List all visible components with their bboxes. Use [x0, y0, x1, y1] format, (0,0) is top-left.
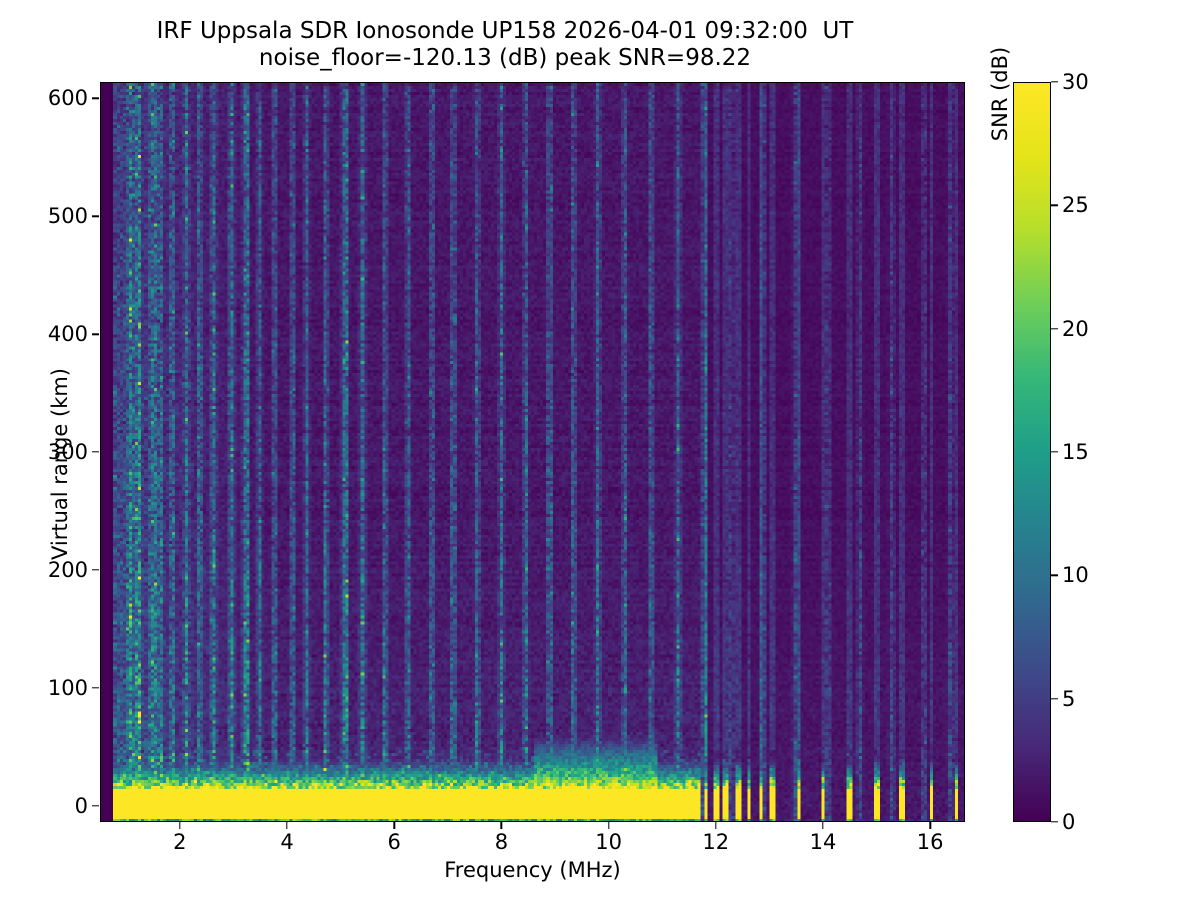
x-tick-label: 6	[388, 830, 401, 854]
x-tick-label: 14	[810, 830, 837, 854]
y-tick-label: 600	[8, 86, 88, 110]
y-tick-label: 500	[8, 204, 88, 228]
y-tick-label: 200	[8, 558, 88, 582]
x-tick-mark	[608, 822, 609, 829]
colorbar-tick-label: 15	[1062, 440, 1089, 464]
colorbar-tick-label: 10	[1062, 563, 1089, 587]
y-tick-mark	[92, 805, 99, 806]
y-tick-label: 0	[8, 794, 88, 818]
y-tick-mark	[92, 451, 99, 452]
colorbar-tick-label: 25	[1062, 193, 1089, 217]
ionogram-figure: IRF Uppsala SDR Ionosonde UP158 2026-04-…	[0, 0, 1200, 900]
y-tick-label: 100	[8, 676, 88, 700]
colorbar-tick-mark	[1051, 451, 1058, 452]
x-tick-label: 16	[917, 830, 944, 854]
title-line-1: IRF Uppsala SDR Ionosonde UP158 2026-04-…	[0, 18, 1010, 45]
y-tick-mark	[92, 687, 99, 688]
colorbar-tick-mark	[1051, 328, 1058, 329]
x-tick-mark	[501, 822, 502, 829]
figure-title: IRF Uppsala SDR Ionosonde UP158 2026-04-…	[0, 18, 1010, 72]
colorbar-label: SNR (dB)	[988, 0, 1012, 464]
colorbar-tick-label: 30	[1062, 70, 1089, 94]
colorbar-tick-label: 0	[1062, 810, 1075, 834]
colorbar-tick-mark	[1051, 81, 1058, 82]
x-tick-mark	[286, 822, 287, 829]
colorbar-tick-mark	[1051, 698, 1058, 699]
x-tick-mark	[715, 822, 716, 829]
colorbar-tick-mark	[1051, 821, 1058, 822]
x-tick-label: 10	[595, 830, 622, 854]
x-tick-mark	[822, 822, 823, 829]
x-tick-label: 2	[173, 830, 186, 854]
ionogram-heatmap	[101, 83, 964, 821]
colorbar	[1013, 82, 1051, 822]
x-tick-mark	[179, 822, 180, 829]
title-line-2: noise_floor=-120.13 (dB) peak SNR=98.22	[0, 45, 1010, 72]
y-tick-label: 300	[8, 440, 88, 464]
x-tick-label: 12	[702, 830, 729, 854]
x-axis-label: Frequency (MHz)	[100, 858, 965, 882]
y-tick-label: 400	[8, 322, 88, 346]
colorbar-gradient	[1014, 83, 1050, 821]
colorbar-tick-mark	[1051, 205, 1058, 206]
y-tick-mark	[92, 98, 99, 99]
x-tick-label: 4	[280, 830, 293, 854]
colorbar-tick-label: 5	[1062, 687, 1075, 711]
y-tick-mark	[92, 216, 99, 217]
ionogram-plot-area	[100, 82, 965, 822]
x-tick-mark	[929, 822, 930, 829]
y-tick-mark	[92, 569, 99, 570]
x-tick-mark	[394, 822, 395, 829]
y-tick-mark	[92, 333, 99, 334]
x-tick-label: 8	[495, 830, 508, 854]
colorbar-tick-label: 20	[1062, 317, 1089, 341]
colorbar-tick-mark	[1051, 575, 1058, 576]
